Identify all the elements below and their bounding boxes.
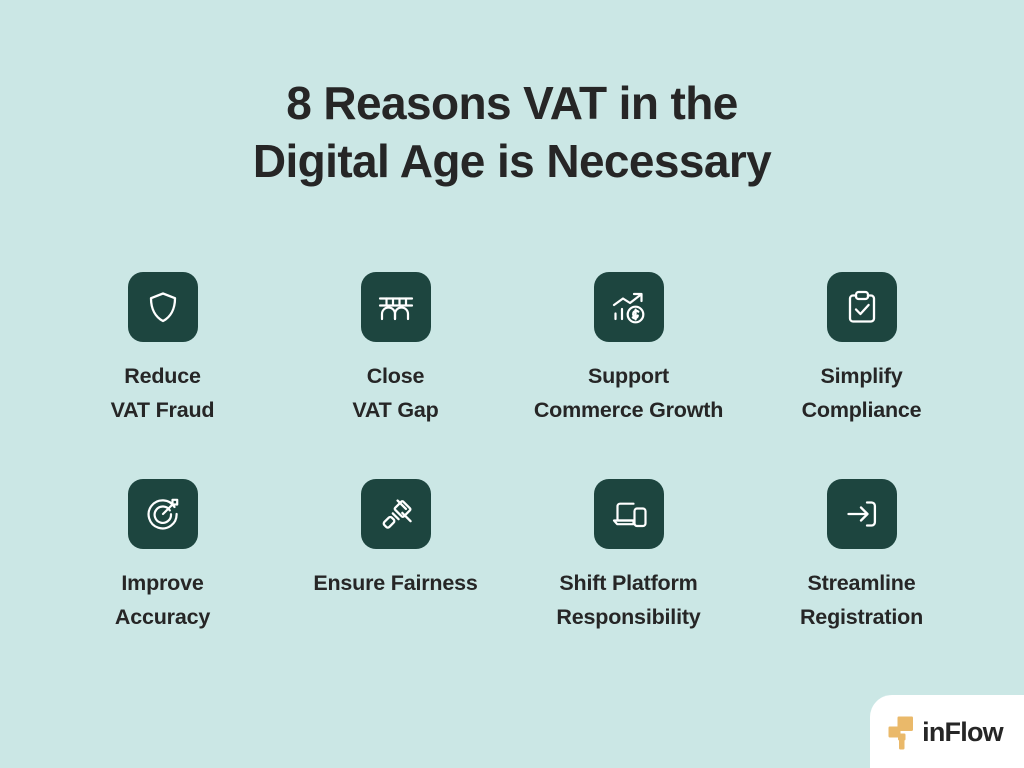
reason-item-shift-platform-responsibility: Shift Platform Responsibility bbox=[512, 479, 745, 686]
reason-label: Close VAT Gap bbox=[352, 359, 438, 427]
infographic-poster: 8 Reasons VAT in the Digital Age is Nece… bbox=[0, 0, 1024, 768]
icon-tile bbox=[827, 272, 897, 342]
page-title: 8 Reasons VAT in the Digital Age is Nece… bbox=[0, 74, 1024, 190]
reason-label: Reduce VAT Fraud bbox=[111, 359, 215, 427]
page-title-line-1: 8 Reasons VAT in the bbox=[0, 74, 1024, 132]
reason-label: Shift Platform Responsibility bbox=[556, 566, 700, 634]
reason-item-streamline-registration: Streamline Registration bbox=[745, 479, 978, 686]
icon-tile bbox=[128, 479, 198, 549]
gavel-icon bbox=[376, 494, 416, 534]
brand-logo-text: inFlow bbox=[922, 719, 1003, 746]
icon-tile bbox=[827, 479, 897, 549]
page-title-line-2: Digital Age is Necessary bbox=[0, 132, 1024, 190]
reason-item-reduce-vat-fraud: Reduce VAT Fraud bbox=[46, 272, 279, 479]
growth-chart-dollar-icon bbox=[608, 286, 650, 328]
shield-icon bbox=[143, 287, 183, 327]
icon-tile bbox=[128, 272, 198, 342]
reason-label: Improve Accuracy bbox=[115, 566, 210, 634]
brand-logo: inFlow bbox=[887, 715, 1003, 751]
reason-item-improve-accuracy: Improve Accuracy bbox=[46, 479, 279, 686]
reason-item-support-commerce-growth: Support Commerce Growth bbox=[512, 272, 745, 479]
icon-tile bbox=[361, 272, 431, 342]
icon-tile bbox=[594, 272, 664, 342]
reason-label: Streamline Registration bbox=[800, 566, 923, 634]
reason-label: Ensure Fairness bbox=[313, 566, 477, 600]
brand-logo-card: inFlow bbox=[870, 695, 1024, 768]
clipboard-check-icon bbox=[843, 287, 881, 327]
target-dart-icon bbox=[142, 493, 184, 535]
sign-in-arrow-icon bbox=[842, 494, 882, 534]
reasons-grid: Reduce VAT Fraud Clo bbox=[46, 272, 978, 686]
reason-item-simplify-compliance: Simplify Compliance bbox=[745, 272, 978, 479]
reason-label: Support Commerce Growth bbox=[534, 359, 723, 427]
icon-tile bbox=[361, 479, 431, 549]
bridge-icon bbox=[375, 287, 417, 327]
icon-tile bbox=[594, 479, 664, 549]
reason-item-ensure-fairness: Ensure Fairness bbox=[279, 479, 512, 686]
devices-icon bbox=[608, 494, 650, 534]
reason-label: Simplify Compliance bbox=[802, 359, 922, 427]
inflow-logo-mark-icon bbox=[887, 715, 921, 751]
reason-item-close-vat-gap: Close VAT Gap bbox=[279, 272, 512, 479]
